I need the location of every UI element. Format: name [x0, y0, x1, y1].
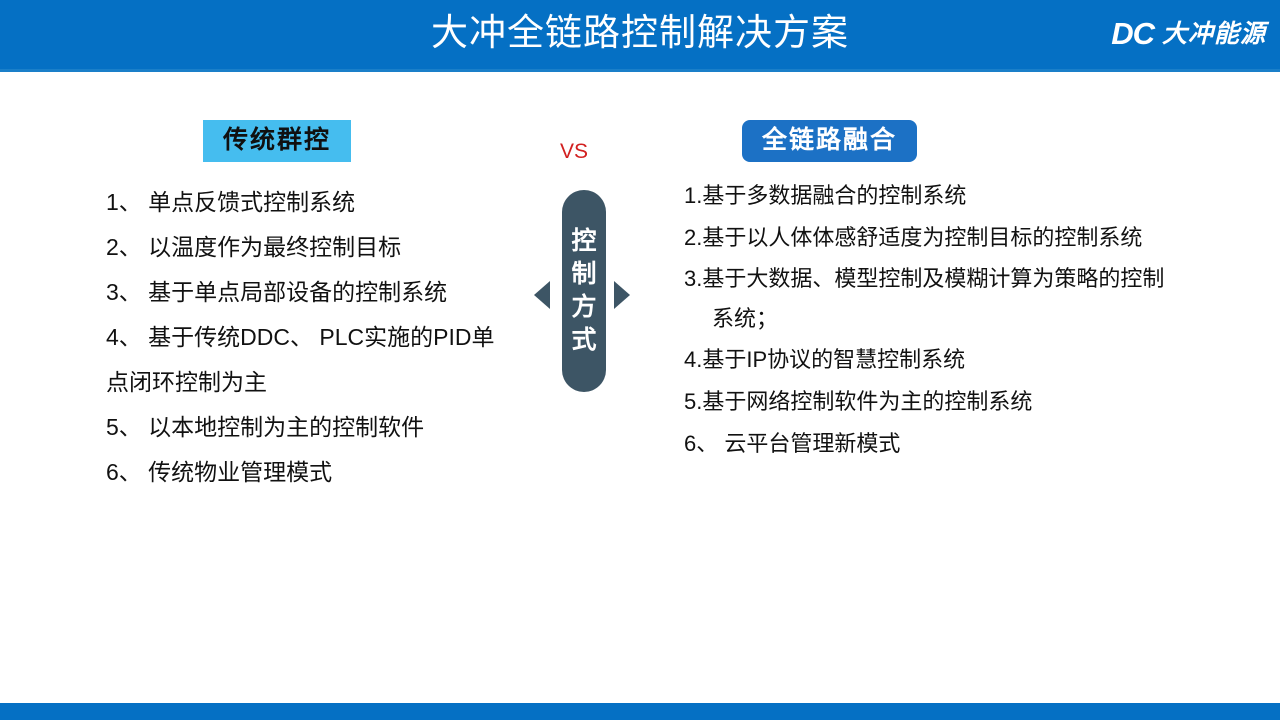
- badge-traditional-group-control: 传统群控: [203, 120, 351, 162]
- left-column: 传统群控 1、 单点反馈式控制系统 2、 以温度作为最终控制目标 3、 基于单点…: [106, 120, 536, 495]
- list-item: 6、 传统物业管理模式: [106, 450, 536, 495]
- list-item: 1.基于多数据融合的控制系统: [684, 175, 1280, 217]
- list-item: 5、 以本地控制为主的控制软件: [106, 405, 536, 450]
- page-title: 大冲全链路控制解决方案: [0, 8, 1280, 58]
- pill-char: 控: [571, 226, 596, 257]
- pill-char: 式: [571, 325, 596, 356]
- list-item: 4.基于IP协议的智慧控制系统: [684, 339, 1280, 381]
- list-item-continuation-text: 系统；: [684, 299, 1280, 339]
- vs-label: VS: [560, 140, 588, 164]
- header-bar: 大冲全链路控制解决方案 DC 大冲能源: [0, 0, 1280, 72]
- footer-bar: [0, 703, 1280, 720]
- badge-full-chain-fusion: 全链路融合: [742, 120, 917, 162]
- list-item-continuation: 点闭环控制为主: [106, 360, 536, 405]
- arrow-left-icon: [534, 281, 550, 309]
- left-list: 1、 单点反馈式控制系统 2、 以温度作为最终控制目标 3、 基于单点局部设备的…: [106, 180, 536, 495]
- logo-company-name: 大冲能源: [1162, 17, 1266, 51]
- list-item: 3.基于大数据、模型控制及模糊计算为策略的控制: [684, 259, 1280, 299]
- list-item: 5.基于网络控制软件为主的控制系统: [684, 381, 1280, 423]
- list-item: 2.基于以人体体感舒适度为控制目标的控制系统: [684, 217, 1280, 259]
- arrow-right-icon: [614, 281, 630, 309]
- pill-char: 制: [571, 259, 596, 290]
- list-item: 2、 以温度作为最终控制目标: [106, 225, 536, 270]
- list-item: 6、 云平台管理新模式: [684, 423, 1280, 465]
- right-list: 1.基于多数据融合的控制系统 2.基于以人体体感舒适度为控制目标的控制系统 3.…: [684, 175, 1280, 465]
- right-column: 全链路融合 1.基于多数据融合的控制系统 2.基于以人体体感舒适度为控制目标的控…: [684, 120, 1280, 465]
- pill-char: 方: [571, 292, 596, 323]
- brand-logo: DC 大冲能源: [1111, 17, 1266, 51]
- list-item: 1、 单点反馈式控制系统: [106, 180, 536, 225]
- list-item-continuation: 系统；: [684, 299, 1280, 339]
- list-item: 4、 基于传统DDC、 PLC实施的PID单: [106, 315, 536, 360]
- logo-mark-dc: DC: [1111, 17, 1154, 51]
- control-method-pill: 控 制 方 式: [562, 190, 606, 392]
- list-item: 3、 基于单点局部设备的控制系统: [106, 270, 536, 315]
